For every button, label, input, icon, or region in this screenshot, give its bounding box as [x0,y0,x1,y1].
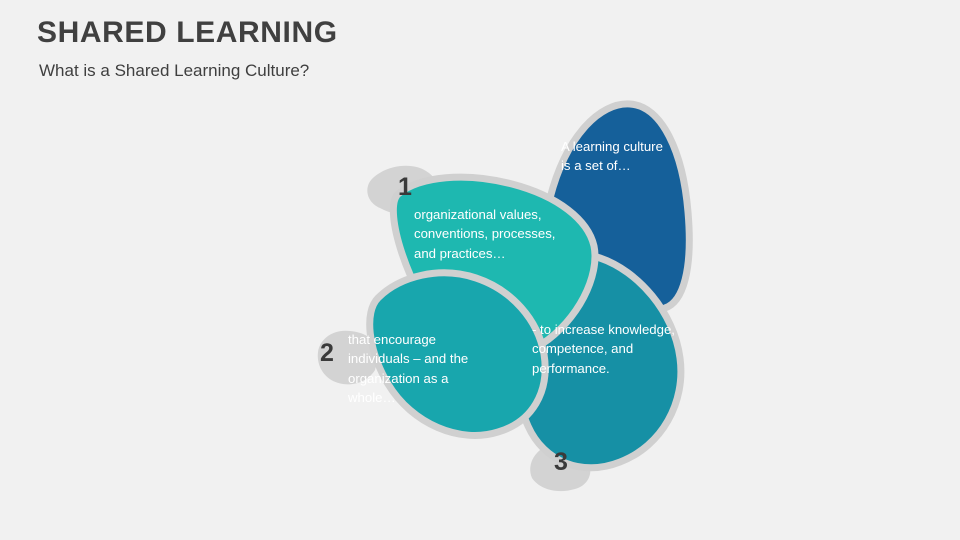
title-block: SHARED LEARNING What is a Shared Learnin… [37,16,737,81]
slide-canvas: SHARED LEARNING What is a Shared Learnin… [0,0,960,540]
petal-diagram: A learning culture is a set of… organiza… [270,80,720,510]
page-subtitle: What is a Shared Learning Culture? [39,61,737,81]
page-title: SHARED LEARNING [37,16,737,51]
petal-diagram-svg [270,80,720,510]
